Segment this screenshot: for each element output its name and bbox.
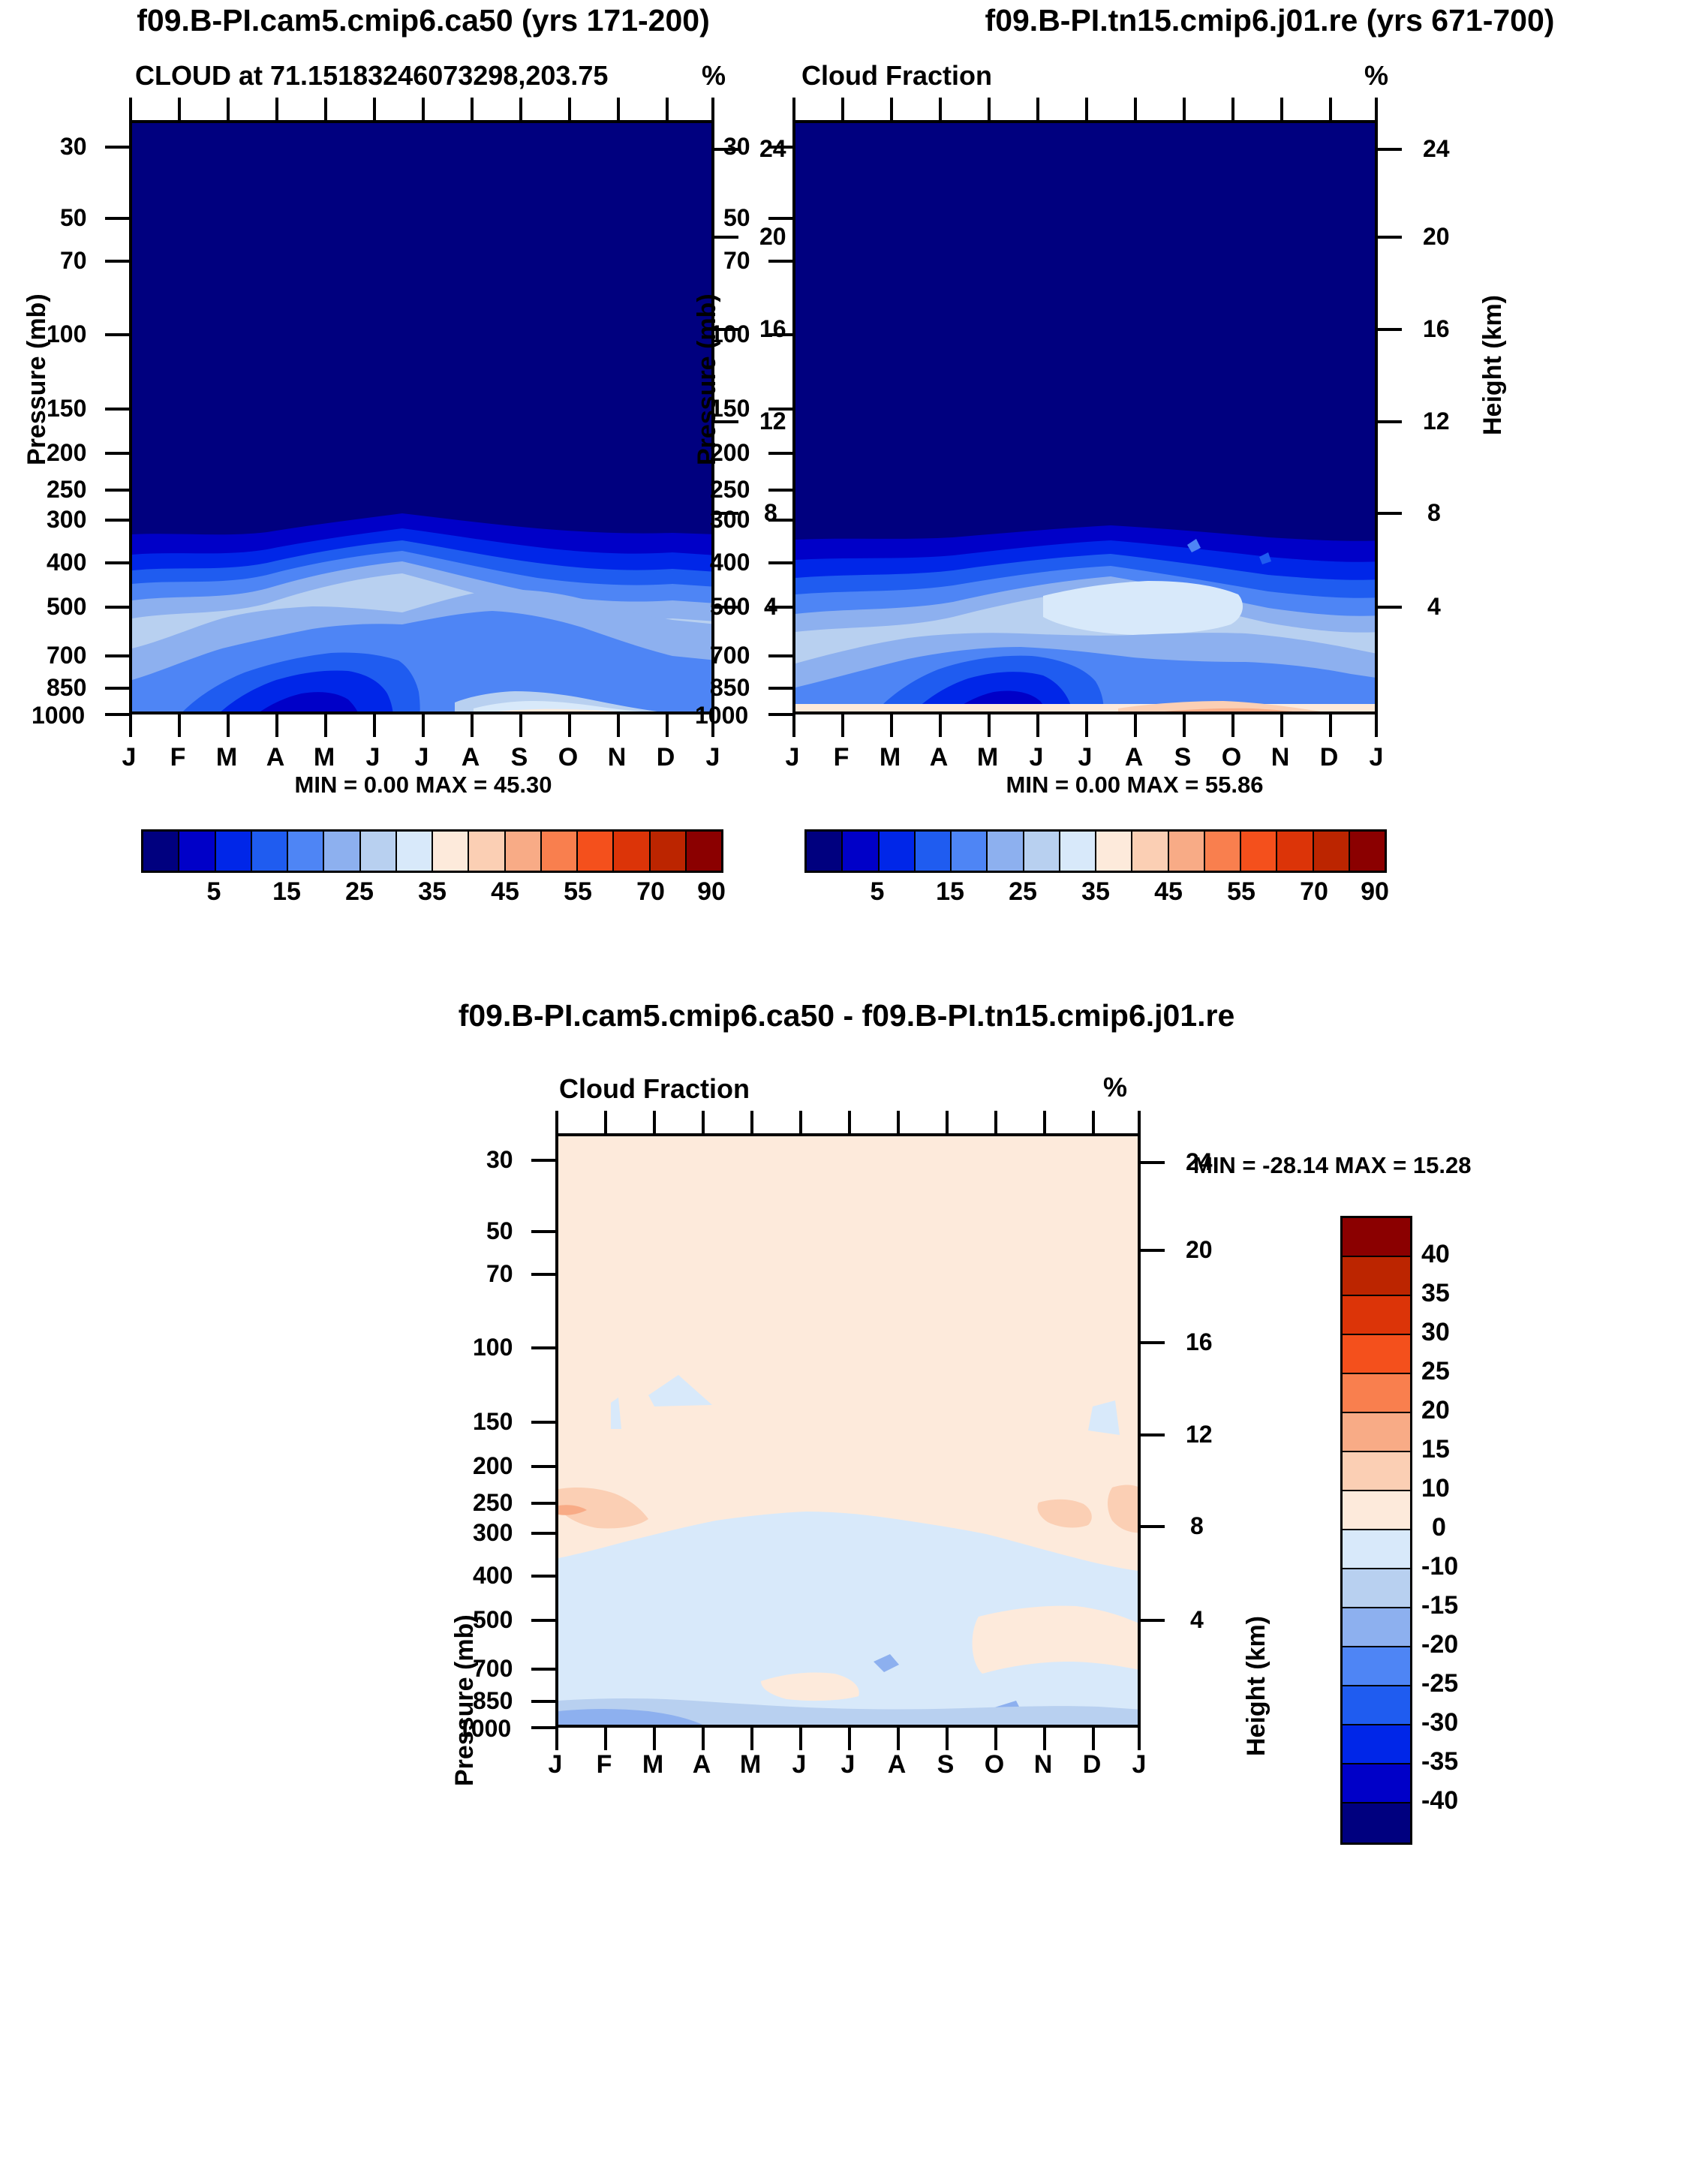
panel-right-subtitle: Cloud Fraction	[801, 60, 992, 92]
panel-left-subtitle: CLOUD at 71.15183246073298,203.75	[135, 60, 608, 92]
panel-diff-units: %	[1103, 1072, 1127, 1103]
colorbar-swatches	[804, 829, 1387, 873]
panel-right-units: %	[1364, 60, 1388, 92]
panel-diff-subtitle: Cloud Fraction	[559, 1073, 750, 1105]
panel-left-colorbar: 5 15 25 35 45 55 70 90	[141, 829, 723, 912]
panel-right-plot	[792, 120, 1378, 714]
colorbar-tick-labels: 5 15 25 35 45 55 70 90	[804, 877, 1387, 912]
panel-diff-plot	[555, 1133, 1141, 1728]
panel-diff-minmax: MIN = -28.14 MAX = 15.28	[1193, 1152, 1471, 1179]
colorbar-swatches	[1340, 1216, 1412, 1845]
panel-right-title: f09.B-PI.tn15.cmip6.j01.re (yrs 671-700)	[846, 3, 1693, 38]
panel-right-contour-field	[795, 123, 1378, 714]
panel-diff: f09.B-PI.cam5.cmip6.ca50 - f09.B-PI.tn15…	[0, 983, 1693, 1770]
panel-left-title: f09.B-PI.cam5.cmip6.ca50 (yrs 171-200)	[0, 3, 846, 38]
panel-left-plot	[129, 120, 714, 714]
panel-left-units: %	[702, 60, 726, 92]
panel-diff-title: f09.B-PI.cam5.cmip6.ca50 - f09.B-PI.tn15…	[0, 998, 1693, 1033]
panel-left-contour-field	[132, 123, 714, 714]
panel-diff-contour-field	[558, 1136, 1141, 1728]
panel-right-minmax: MIN = 0.00 MAX = 55.86	[711, 772, 1558, 799]
panel-diff-height-axis-label: Height (km)	[1242, 1616, 1271, 1756]
panel-right-height-axis-label: Height (km)	[1478, 295, 1508, 435]
colorbar-swatches	[141, 829, 723, 873]
colorbar-tick-labels: 5 15 25 35 45 55 70 90	[141, 877, 723, 912]
panel-right-colorbar: 5 15 25 35 45 55 70 90	[804, 829, 1387, 912]
panel-right: f09.B-PI.tn15.cmip6.j01.re (yrs 671-700)…	[846, 0, 1693, 923]
